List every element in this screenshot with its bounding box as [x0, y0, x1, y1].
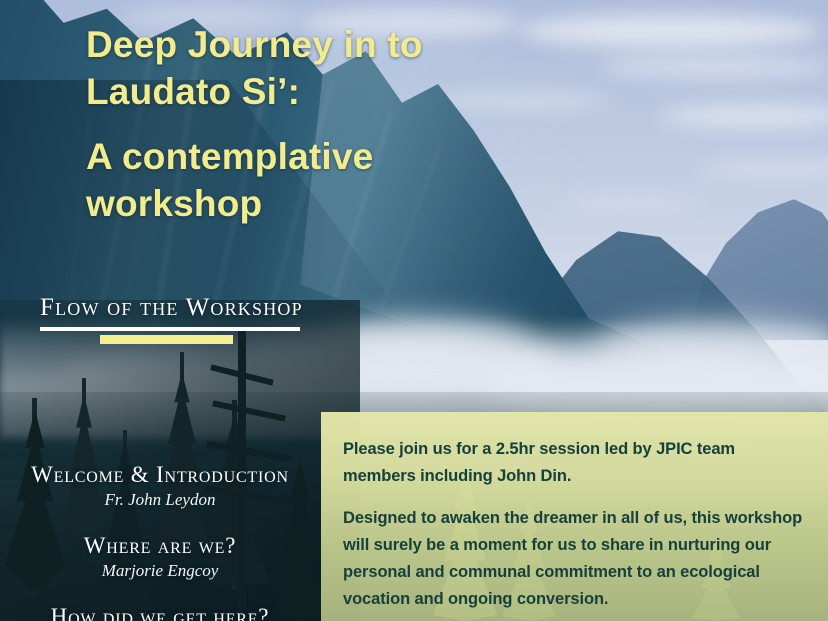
agenda-item-title: How did we get here? — [0, 604, 320, 621]
flow-heading-accent-bar — [100, 335, 233, 344]
description-panel-content: Please join us for a 2.5hr session led b… — [321, 412, 828, 612]
title-spacer — [86, 116, 526, 134]
agenda-item-title: Welcome & Introduction — [0, 462, 320, 488]
title-line-4: workshop — [86, 181, 526, 228]
flow-of-workshop-heading: Flow of the Workshop — [40, 294, 340, 322]
mist-puff — [600, 318, 828, 370]
agenda-list: Welcome & Introduction Fr. John Leydon W… — [0, 462, 320, 621]
agenda-item: How did we get here? — [0, 604, 320, 621]
agenda-item-speaker: Marjorie Engcoy — [0, 560, 320, 582]
title-line-2: Laudato Si’: — [86, 69, 526, 116]
poster-canvas: Deep Journey in to Laudato Si’: A contem… — [0, 0, 828, 621]
title-line-1: Deep Journey in to — [86, 22, 526, 69]
title-line-3: A contemplative — [86, 134, 526, 181]
flow-heading-rule — [40, 327, 300, 331]
cloud-shape — [600, 56, 828, 78]
description-panel: Please join us for a 2.5hr session led b… — [321, 412, 828, 621]
flow-of-workshop-section: Flow of the Workshop — [40, 294, 340, 344]
description-paragraph-1: Please join us for a 2.5hr session led b… — [343, 436, 806, 489]
cloud-shape — [520, 14, 820, 48]
agenda-item: Welcome & Introduction Fr. John Leydon — [0, 462, 320, 511]
poster-title: Deep Journey in to Laudato Si’: A contem… — [86, 22, 526, 228]
mist-puff — [330, 316, 530, 360]
agenda-item-title: Where are we? — [0, 533, 320, 559]
description-paragraph-2: Designed to awaken the dreamer in all of… — [343, 505, 806, 612]
agenda-item: Where are we? Marjorie Engcoy — [0, 533, 320, 582]
agenda-item-speaker: Fr. John Leydon — [0, 489, 320, 511]
